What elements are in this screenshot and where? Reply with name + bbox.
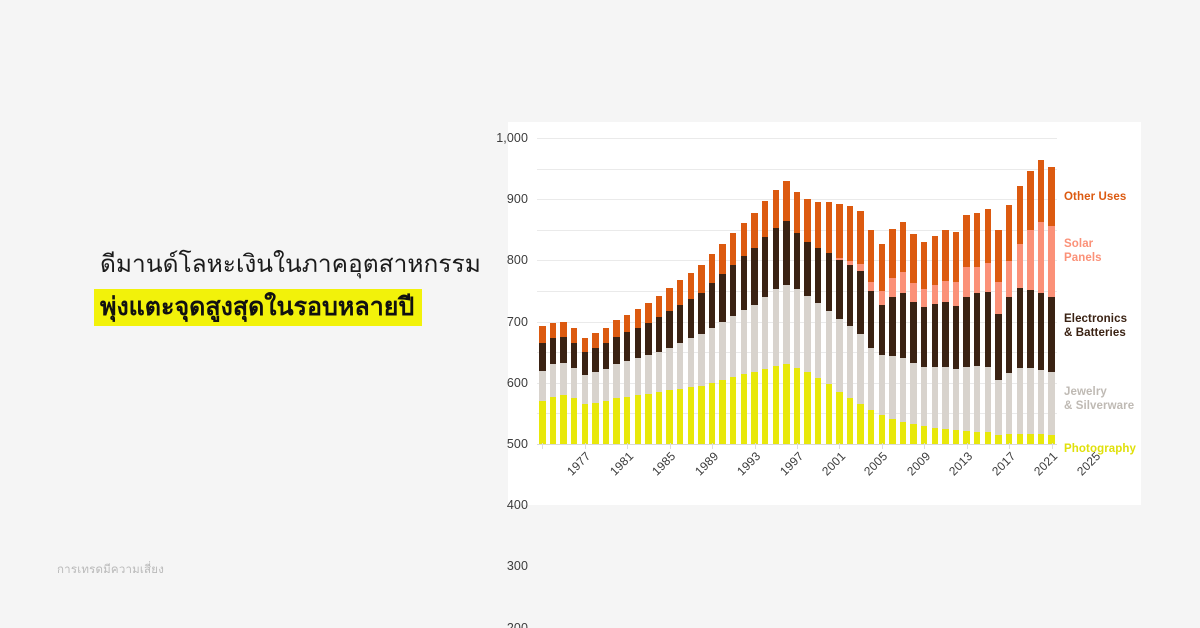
bar-slot[interactable] [760,138,771,444]
bar-segment [1017,244,1023,288]
x-axis-tick-label: 1981 [607,449,636,478]
stacked-bar[interactable] [762,201,768,444]
bar-segment [550,397,556,444]
bar-segment [953,232,959,282]
stacked-bar[interactable] [942,230,948,444]
stacked-bar[interactable] [794,192,800,444]
bar-segment [1006,373,1012,434]
x-axis-tick-mark [712,443,713,449]
bar-slot[interactable] [579,138,590,444]
bar-segment [847,326,853,398]
bar-segment [868,282,874,291]
bar-slot[interactable] [1004,138,1015,444]
stacked-bar[interactable] [1006,205,1012,444]
stacked-bar[interactable] [688,273,694,444]
bar-segment [1048,167,1054,227]
bar-slot[interactable] [537,138,548,444]
x-axis-tick-mark [924,443,925,449]
bar-segment [751,248,757,305]
bar-segment [847,206,853,261]
bar-slot[interactable] [590,138,601,444]
bar-segment [773,228,779,289]
stacked-bar[interactable] [879,244,885,444]
bar-slot[interactable] [887,138,898,444]
bar-slot[interactable] [569,138,580,444]
bar-segment [571,398,577,444]
bar-slot[interactable] [717,138,728,444]
stacked-bar[interactable] [730,233,736,444]
bar-segment [857,264,863,271]
bar-segment [1048,297,1054,372]
bar-segment [571,343,577,367]
bar-segment [666,390,672,444]
stacked-bar[interactable] [719,244,725,444]
bar-segment [794,368,800,445]
bar-segment [762,297,768,369]
stacked-bar[interactable] [709,254,715,444]
bar-segment [730,377,736,444]
stacked-bar[interactable] [582,338,588,444]
bar-segment [953,306,959,369]
bar-slot[interactable] [664,138,675,444]
bar-segment [698,293,704,334]
bar-segment [1027,171,1033,231]
x-axis-tick-label: 1997 [777,449,806,478]
bar-segment [879,244,885,291]
bar-segment [932,236,938,285]
bar-segment [942,230,948,280]
y-axis-tick-label: 700 [507,315,528,329]
bar-slot[interactable] [643,138,654,444]
bar-segment [688,273,694,299]
bar-segment [656,317,662,352]
stacked-bar[interactable] [550,323,556,444]
bar-segment [953,282,959,306]
x-axis-tick-mark [967,443,968,449]
stacked-bar[interactable] [910,234,916,444]
stacked-bar[interactable] [889,229,895,444]
bar-slot[interactable] [866,138,877,444]
bar-segment [698,334,704,386]
bar-segment [677,343,683,389]
bar-segment [857,404,863,444]
chart-plot-area: 01002003004005006007008009001,000 [537,138,1057,444]
bar-segment [942,302,948,366]
bar-segment [826,311,832,384]
bar-segment [603,343,609,369]
stacked-bar[interactable] [900,222,906,444]
bar-segment [762,369,768,444]
bar-slot[interactable] [845,138,856,444]
bar-segment [709,254,715,283]
stacked-bar[interactable] [656,296,662,444]
bar-segment [592,333,598,348]
bar-slot[interactable] [940,138,951,444]
bar-segment [560,322,566,337]
stacked-bar[interactable] [815,202,821,444]
bar-segment [560,337,566,363]
bar-slot[interactable] [696,138,707,444]
bar-segment [826,202,832,252]
bar-segment [773,366,779,444]
bar-segment [1027,230,1033,290]
bar-segment [985,263,991,292]
bar-segment [1017,434,1023,444]
bar-segment [942,367,948,430]
bar-slot[interactable] [983,138,994,444]
stacked-bar[interactable] [921,242,927,444]
bar-segment [719,322,725,380]
stacked-bar[interactable] [995,230,1001,444]
bar-segment [560,395,566,444]
bar-segment [963,215,969,267]
bar-segment [698,386,704,444]
bar-segment [1048,372,1054,435]
bar-segment [932,285,938,304]
stacked-bar[interactable] [804,199,810,444]
stacked-bar[interactable] [635,309,641,444]
stacked-bar[interactable] [571,328,577,444]
bar-segment [815,248,821,303]
stacked-bar[interactable] [1048,167,1054,444]
bar-segment [709,283,715,327]
bar-slot[interactable] [601,138,612,444]
bar-segment [847,398,853,444]
bar-slot[interactable] [770,138,781,444]
bar-slot[interactable] [558,138,569,444]
stacked-bar[interactable] [603,328,609,444]
bar-segment [613,320,619,337]
bar-segment [974,267,980,293]
x-axis-tick-mark [797,443,798,449]
bar-slot[interactable] [877,138,888,444]
bar-segment [582,404,588,444]
stacked-bar[interactable] [677,280,683,444]
stacked-bar[interactable] [645,303,651,444]
bar-segment [603,401,609,444]
bar-slot[interactable] [993,138,1004,444]
bar-segment [974,293,980,366]
bar-segment [582,352,588,375]
bar-segment [613,364,619,398]
bar-segment [995,230,1001,282]
stacked-bar[interactable] [1017,186,1023,444]
x-axis-tick-mark [1052,443,1053,449]
stacked-bar[interactable] [624,315,630,444]
stacked-bar[interactable] [963,215,969,444]
bar-segment [900,272,906,293]
bar-segment [857,271,863,334]
bar-segment [826,384,832,444]
x-axis-tick-mark [627,443,628,449]
bar-segment [741,310,747,374]
stacked-bar[interactable] [953,232,959,444]
bar-segment [762,237,768,297]
bar-segment [783,181,789,221]
bar-slot[interactable] [749,138,760,444]
bar-slot[interactable] [802,138,813,444]
bar-slot[interactable] [728,138,739,444]
y-axis-tick-label: 900 [507,192,528,206]
stacked-bar[interactable] [783,181,789,444]
legend-item[interactable]: Electronics & Batteries [1064,312,1127,340]
stacked-bar[interactable] [974,213,980,444]
bar-segment [794,289,800,367]
bar-slot[interactable] [855,138,866,444]
x-axis-tick-mark [585,443,586,449]
chart-x-axis: 1977198119851989199319972001200520092013… [537,449,1057,509]
bar-segment [656,296,662,317]
bar-segment [963,297,969,367]
bar-segment [868,348,874,411]
bar-segment [910,283,916,302]
bar-segment [857,211,863,265]
bar-segment [868,291,874,348]
bar-segment [1038,293,1044,370]
x-axis-tick-label: 1985 [649,449,678,478]
stacked-bar[interactable] [613,320,619,444]
bar-segment [794,233,800,290]
bar-segment [1006,261,1012,296]
stacked-bar[interactable] [857,211,863,444]
bar-slot[interactable] [930,138,941,444]
bar-segment [751,305,757,372]
bar-segment [910,234,916,283]
bar-segment [910,424,916,444]
bar-segment [1027,434,1033,444]
bar-slot[interactable] [707,138,718,444]
bar-segment [773,190,779,228]
bar-segment [635,395,641,444]
bar-segment [879,291,885,305]
x-axis-tick-mark [839,443,840,449]
headline-block: ดีมานด์โลหะเงินในภาคอุตสาหกรรม พุ่งแตะจุ… [100,248,500,327]
bar-segment [688,387,694,444]
bar-segment [1038,370,1044,434]
bar-slot[interactable] [686,138,697,444]
bar-segment [953,430,959,444]
bar-slot[interactable] [622,138,633,444]
bar-slot[interactable] [781,138,792,444]
bar-segment [666,311,672,348]
bar-segment [571,328,577,343]
bar-segment [942,281,948,302]
bar-segment [560,363,566,395]
bar-segment [592,372,598,403]
bar-segment [1017,186,1023,244]
bar-segment [921,242,927,289]
bar-slot[interactable] [739,138,750,444]
bar-segment [1027,290,1033,368]
bar-slot[interactable] [951,138,962,444]
bar-segment [942,429,948,444]
y-axis-tick-label: 400 [507,498,528,512]
bar-segment [645,355,651,393]
stacked-bar[interactable] [539,326,545,444]
bar-segment [719,380,725,444]
bar-segment [804,242,810,296]
bar-slot[interactable] [823,138,834,444]
x-axis-tick-mark [755,443,756,449]
bar-segment [889,229,895,278]
bar-segment [539,343,545,371]
bar-segment [1048,226,1054,296]
bar-segment [624,361,630,396]
bar-slot[interactable] [919,138,930,444]
bar-segment [613,337,619,365]
bar-slot[interactable] [834,138,845,444]
stacked-bar[interactable] [847,206,853,444]
bar-segment [804,199,810,242]
stacked-bar[interactable] [1027,171,1033,444]
y-axis-tick-label: 800 [507,253,528,267]
stacked-bar[interactable] [666,288,672,444]
bar-segment [921,289,927,307]
bar-segment [592,403,598,444]
legend-item[interactable]: Solar Panels [1064,237,1102,265]
stacked-bar[interactable] [741,223,747,444]
bar-segment [751,372,757,444]
bar-segment [910,363,916,424]
bar-slot[interactable] [972,138,983,444]
stacked-bar[interactable] [985,209,991,444]
bar-segment [836,260,842,320]
bar-segment [921,426,927,444]
bar-segment [677,389,683,444]
bar-segment [974,366,980,432]
bar-segment [985,209,991,263]
bar-segment [730,265,736,315]
bar-segment [879,305,885,355]
bar-segment [688,299,694,339]
bar-segment [815,303,821,378]
bar-segment [666,348,672,391]
bar-segment [879,355,885,415]
y-axis-tick-label: 300 [507,559,528,573]
headline-highlight-wrap: พุ่งแตะจุดสูงสุดในรอบหลายปี [100,287,414,327]
bar-segment [539,401,545,444]
bar-slot[interactable] [1014,138,1025,444]
x-axis-tick-label: 1993 [734,449,763,478]
bar-segment [603,369,609,401]
bar-slot[interactable] [813,138,824,444]
bar-slot[interactable] [1046,138,1057,444]
bar-segment [645,303,651,323]
bar-segment [1006,297,1012,374]
bar-segment [783,285,789,365]
bar-segment [900,222,906,272]
bar-segment [974,432,980,444]
bar-segment [677,280,683,304]
bar-segment [804,372,810,444]
bar-slot[interactable] [611,138,622,444]
x-axis-tick-label: 1989 [692,449,721,478]
bar-slot[interactable] [1036,138,1047,444]
bar-slot[interactable] [675,138,686,444]
legend-item[interactable]: Other Uses [1064,190,1126,204]
legend-item[interactable]: Jewelry & Silverware [1064,385,1134,413]
stacked-bar[interactable] [826,202,832,444]
bar-segment [995,380,1001,435]
stacked-bar[interactable] [932,236,938,444]
x-axis-tick-mark [882,443,883,449]
bar-segment [900,422,906,444]
stacked-bar[interactable] [560,322,566,444]
bar-segment [719,274,725,321]
bar-segment [910,302,916,363]
footer-disclaimer: การเทรดมีความเสี่ยง [57,561,164,579]
bar-segment [613,398,619,444]
bar-segment [762,201,768,238]
bar-segment [985,432,991,444]
bar-slot[interactable] [908,138,919,444]
x-axis-tick-label: 2005 [861,449,890,478]
bar-segment [741,374,747,444]
bar-segment [889,278,895,296]
x-axis-tick-mark [670,443,671,449]
bar-segment [879,415,885,444]
bar-segment [847,265,853,326]
y-axis-tick-label: 500 [507,437,528,451]
bar-segment [666,288,672,311]
stacked-bar[interactable] [751,213,757,444]
stacked-bar[interactable] [698,265,704,444]
bar-slot[interactable] [792,138,803,444]
bar-segment [932,367,938,428]
bar-segment [985,292,991,367]
legend-item[interactable]: Photography [1064,442,1136,456]
bar-slot[interactable] [961,138,972,444]
bar-segment [815,378,821,444]
bar-segment [804,296,810,373]
bar-segment [709,328,715,383]
bar-segment [751,213,757,248]
y-axis-tick-label: 1,000 [496,131,528,145]
x-axis-tick-label: 1977 [564,449,593,478]
stacked-bar[interactable] [868,230,874,444]
bar-slot[interactable] [548,138,559,444]
x-axis-tick-mark [1009,443,1010,449]
bar-segment [932,428,938,444]
bar-segment [985,367,991,433]
bar-segment [688,338,694,387]
bar-segment [550,323,556,338]
bar-slot[interactable] [1025,138,1036,444]
stacked-bar[interactable] [773,190,779,444]
stacked-bar[interactable] [592,333,598,444]
bar-segment [900,358,906,422]
bar-segment [995,282,1001,314]
bar-segment [889,356,895,419]
bar-slot[interactable] [654,138,665,444]
x-axis-tick-mark [542,443,543,449]
bar-segment [656,392,662,444]
y-axis-tick-label: 600 [507,376,528,390]
bar-slot[interactable] [632,138,643,444]
bar-slot[interactable] [898,138,909,444]
x-axis-tick-label: 2009 [904,449,933,478]
bar-segment [868,410,874,444]
bar-segment [815,202,821,248]
bar-segment [1006,205,1012,262]
stacked-bar[interactable] [836,204,842,444]
bar-segment [921,307,927,367]
bar-segment [963,267,969,296]
bar-segment [635,309,641,327]
bar-segment [550,338,556,364]
bar-segment [773,289,779,366]
stacked-bar[interactable] [1038,160,1044,444]
